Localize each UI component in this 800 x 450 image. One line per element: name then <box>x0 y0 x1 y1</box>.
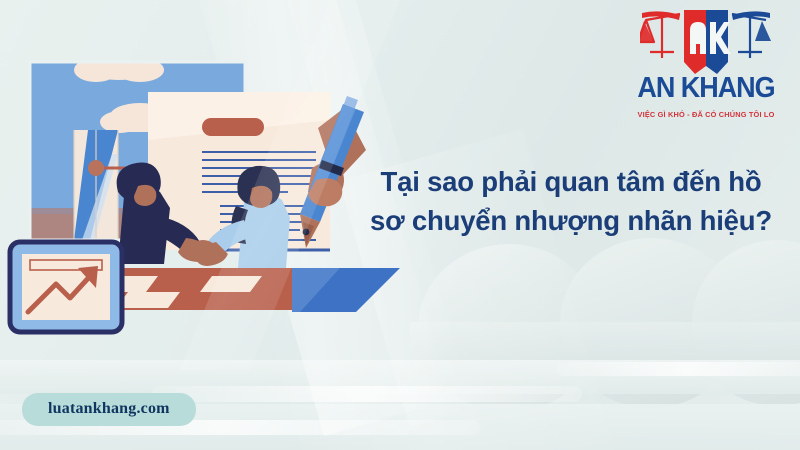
growth-chart-tablet <box>10 242 122 332</box>
page-title: Tại sao phải quan tâm đến hồ sơ chuyển n… <box>352 162 790 240</box>
brand-logo[interactable]: AN KHANG VIỆC GÌ KHÓ - ĐÃ CÓ CHÚNG TÔI L… <box>612 8 800 130</box>
banner-root: Tại sao phải quan tâm đến hồ sơ chuyển n… <box>0 0 800 450</box>
building-left <box>74 130 118 240</box>
logo-wordmark: AN KHANG <box>619 72 794 105</box>
logo-tagline: VIỆC GÌ KHÓ - ĐÃ CÓ CHÚNG TÔI LO <box>615 110 797 119</box>
hero-illustration <box>0 0 400 370</box>
website-url-badge[interactable]: luatankhang.com <box>22 393 196 426</box>
document-title-block <box>202 118 264 136</box>
website-url-text: luatankhang.com <box>48 400 170 417</box>
headline-line-1: Tại sao phải quan tâm đến hồ <box>352 162 790 201</box>
scales-of-justice-icon <box>640 8 772 74</box>
headline-line-2: sơ chuyển nhượng nhãn hiệu? <box>352 201 790 240</box>
